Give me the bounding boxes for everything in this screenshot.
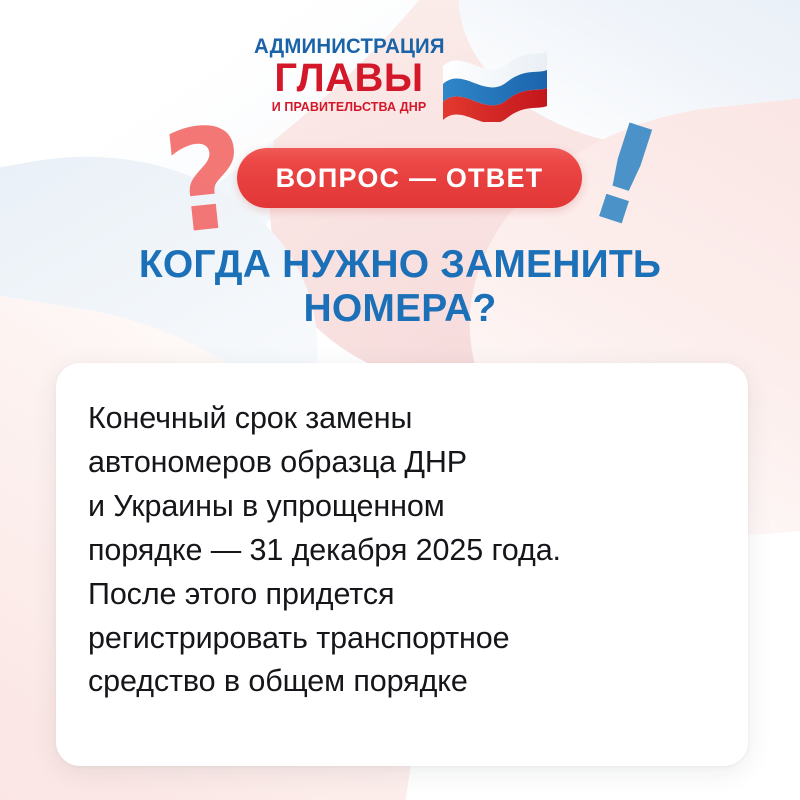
exclamation-mark-icon: !	[575, 102, 675, 249]
organization-logo: АДМИНИСТРАЦИЯ ГЛАВЫ И ПРАВИТЕЛЬСТВА ДНР	[0, 34, 800, 122]
russian-tricolor-flag-icon	[441, 40, 549, 122]
poster-canvas: АДМИНИСТРАЦИЯ ГЛАВЫ И ПРАВИТЕЛЬСТВА ДНР	[0, 0, 800, 800]
answer-card: Конечный срок замены автономеров образца…	[56, 363, 748, 766]
logo-line-head: ГЛАВЫ	[274, 59, 423, 98]
question-answer-banner-label: ВОПРОС — ОТВЕТ	[276, 163, 544, 194]
question-answer-banner: ВОПРОС — ОТВЕТ	[237, 148, 582, 208]
logo-text-block: АДМИНИСТРАЦИЯ ГЛАВЫ И ПРАВИТЕЛЬСТВА ДНР	[251, 34, 448, 114]
logo-line-government: И ПРАВИТЕЛЬСТВА ДНР	[272, 101, 427, 114]
logo-line-administration: АДМИНИСТРАЦИЯ	[254, 36, 445, 57]
page-title: КОГДА НУЖНО ЗАМЕНИТЬ НОМЕРА?	[60, 243, 740, 332]
answer-card-body: Конечный срок замены автономеров образца…	[88, 397, 708, 704]
